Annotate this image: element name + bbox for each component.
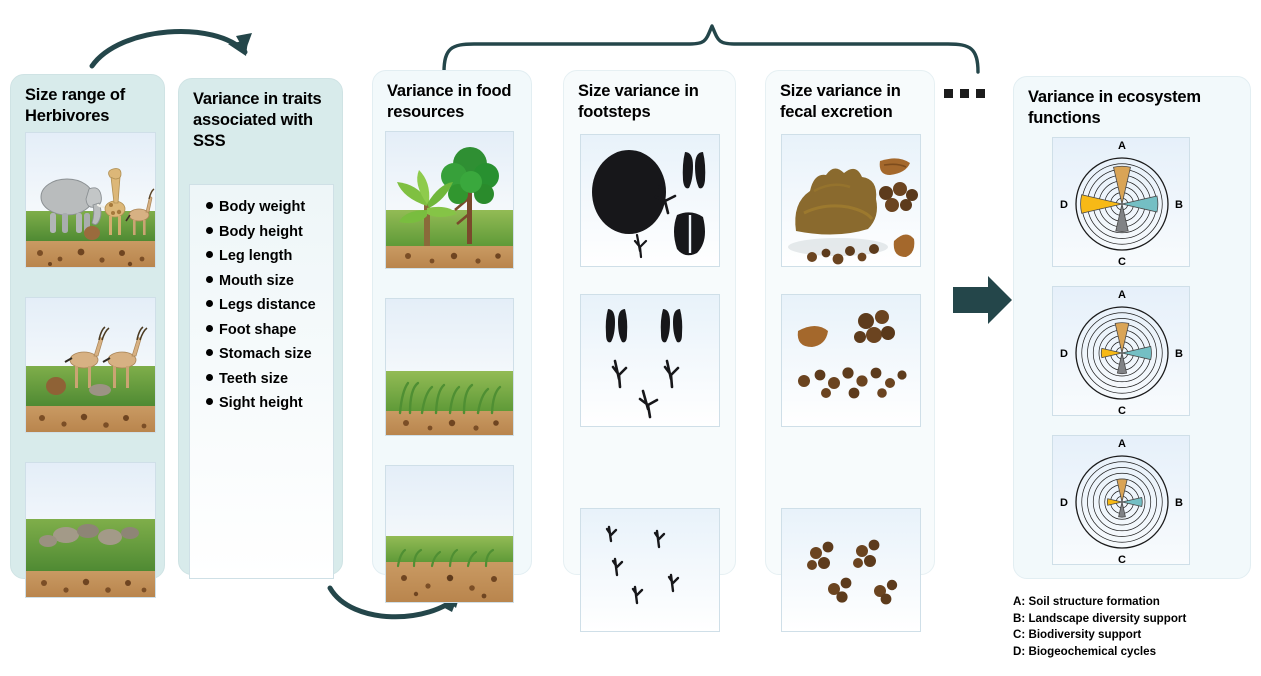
trait-label: Sight height — [219, 395, 303, 411]
card-title-food: Variance in food resources — [387, 81, 521, 123]
elephant-footprint-icon — [592, 150, 666, 234]
panel-footsteps-small — [580, 508, 720, 632]
soil-particles — [403, 420, 499, 431]
dung-fragment — [880, 158, 910, 175]
cloven-hoof-print-icon — [674, 212, 705, 255]
svg-text:C: C — [1118, 405, 1126, 416]
bullet-icon — [206, 276, 213, 283]
panel-herbivores-medium — [25, 297, 156, 433]
svg-text:D: D — [1060, 348, 1068, 360]
bullet-icon — [206, 251, 213, 258]
svg-text:C: C — [1118, 256, 1126, 267]
card-title-herbivores: Size range of Herbivores — [25, 85, 154, 127]
soil-particles — [405, 253, 501, 264]
dung-fragment — [894, 234, 915, 257]
elephant-illustration — [41, 179, 109, 233]
trait-label: Body weight — [219, 199, 305, 215]
small-mammal-illustration — [89, 384, 111, 396]
bird-track-icon — [640, 391, 657, 417]
bullet-icon — [206, 300, 213, 307]
card-size-range-herbivores: Size range of Herbivores — [10, 74, 165, 579]
trait-item: Leg length — [206, 248, 333, 264]
ellipsis-dot — [976, 89, 985, 98]
trait-label: Legs distance — [219, 297, 316, 313]
trait-item: Foot shape — [206, 322, 333, 338]
panel-food-grass — [385, 298, 514, 436]
ecosystem-function-legend: A: Soil structure formation B: Landscape… — [1013, 594, 1258, 660]
trait-label: Stomach size — [219, 346, 312, 362]
rose-chart-high-variance: ABCD — [1052, 137, 1190, 267]
trait-item: Stomach size — [206, 346, 333, 362]
panel-feces-small — [781, 508, 921, 632]
trait-item: Legs distance — [206, 297, 333, 313]
card-title-traits: Variance in traits associated with SSS — [193, 89, 332, 152]
dung-pellets-scatter — [798, 367, 907, 398]
short-grass — [398, 550, 493, 566]
brace-grouping-effect-panels — [444, 26, 978, 72]
rodent-illustration — [46, 377, 66, 395]
card-size-variance-feces: Size variance in fecal excretion — [765, 70, 935, 575]
hoof-print-icon — [606, 309, 628, 342]
panel-feces-large — [781, 134, 921, 267]
panel-herbivores-small — [25, 462, 156, 598]
svg-text:D: D — [1060, 497, 1068, 509]
legend-entry-d: D: Biogeochemical cycles — [1013, 644, 1258, 661]
giraffe-illustration — [105, 169, 125, 235]
panel-herbivores-large — [25, 132, 156, 268]
svg-text:A: A — [1118, 289, 1126, 301]
svg-text:A: A — [1118, 140, 1126, 152]
trait-item: Body height — [206, 224, 333, 240]
trait-item: Sight height — [206, 395, 333, 411]
trait-label: Leg length — [219, 248, 292, 264]
trait-label: Foot shape — [219, 322, 296, 338]
card-size-variance-footsteps: Size variance in footsteps — [563, 70, 736, 575]
hoof-print-icon — [661, 309, 683, 342]
tall-tree-illustration — [441, 147, 499, 244]
panel-food-sparse — [385, 465, 514, 603]
rose-chart-medium-variance: ABCD — [1052, 286, 1190, 416]
svg-text:D: D — [1060, 199, 1068, 211]
svg-text:A: A — [1118, 438, 1126, 450]
trait-label: Mouth size — [219, 273, 294, 289]
grass-tufts — [400, 383, 500, 413]
card-variance-food-resources: Variance in food resources — [372, 70, 532, 575]
dung-pellets-cluster — [807, 540, 897, 605]
svg-text:B: B — [1175, 199, 1183, 211]
large-dung-pile — [795, 168, 877, 234]
dung-pellets-cluster — [879, 182, 918, 212]
svg-text:B: B — [1175, 497, 1183, 509]
block-arrow-to-ecosystem-functions — [953, 276, 1012, 324]
card-variance-ecosystem-functions: Variance in ecosystem functions ABCD ABC… — [1013, 76, 1251, 579]
svg-text:B: B — [1175, 348, 1183, 360]
bullet-icon — [206, 374, 213, 381]
gazelle-pair-illustration — [65, 327, 147, 388]
traits-list: Body weight Body height Leg length Mouth… — [190, 185, 333, 411]
trait-item: Teeth size — [206, 371, 333, 387]
bullet-icon — [206, 202, 213, 209]
soil-particles — [401, 575, 497, 599]
soil-particles — [37, 249, 144, 267]
bird-track-icon — [665, 361, 678, 387]
svg-text:C: C — [1118, 554, 1126, 565]
bird-track-icon — [613, 361, 626, 387]
small-bird-track-icon — [607, 527, 678, 603]
panel-footsteps-large — [580, 134, 720, 267]
trait-label: Body height — [219, 224, 303, 240]
trait-item: Mouth size — [206, 273, 333, 289]
card-title-feces: Size variance in fecal excretion — [780, 81, 924, 123]
card-title-ecosystem: Variance in ecosystem functions — [1028, 87, 1240, 129]
panel-footsteps-medium — [580, 294, 720, 427]
small-fauna-illustration — [39, 524, 139, 547]
dung-pellets-cluster — [854, 310, 895, 343]
legend-entry-a: A: Soil structure formation — [1013, 594, 1258, 611]
diagram-canvas: Size range of Herbivores — [0, 0, 1261, 676]
traits-list-box: Body weight Body height Leg length Mouth… — [189, 184, 334, 579]
ellipsis-dot — [960, 89, 969, 98]
small-bird-track-icon — [635, 235, 646, 257]
panel-feces-medium — [781, 294, 921, 427]
curved-arrow-herbivores-to-traits — [92, 31, 252, 66]
gazelle-illustration — [126, 189, 154, 235]
bullet-icon — [206, 227, 213, 234]
bullet-icon — [206, 398, 213, 405]
card-variance-traits: Variance in traits associated with SSS B… — [178, 78, 343, 575]
card-title-footsteps: Size variance in footsteps — [578, 81, 725, 123]
soil-particles — [39, 414, 146, 429]
rose-chart-low-variance: ABCD — [1052, 435, 1190, 565]
bullet-icon — [206, 325, 213, 332]
legend-entry-b: B: Landscape diversity support — [1013, 611, 1258, 628]
dung-fragment — [798, 326, 828, 347]
bullet-icon — [206, 349, 213, 356]
trait-label: Teeth size — [219, 371, 288, 387]
hoof-print-icon — [683, 152, 706, 188]
legend-entry-c: C: Biodiversity support — [1013, 627, 1258, 644]
ellipsis-more-pathways — [944, 89, 985, 98]
rodent-illustration — [84, 226, 100, 240]
trait-item: Body weight — [206, 199, 333, 215]
soil-particles — [41, 579, 146, 593]
panel-food-trees — [385, 131, 514, 269]
ellipsis-dot — [944, 89, 953, 98]
